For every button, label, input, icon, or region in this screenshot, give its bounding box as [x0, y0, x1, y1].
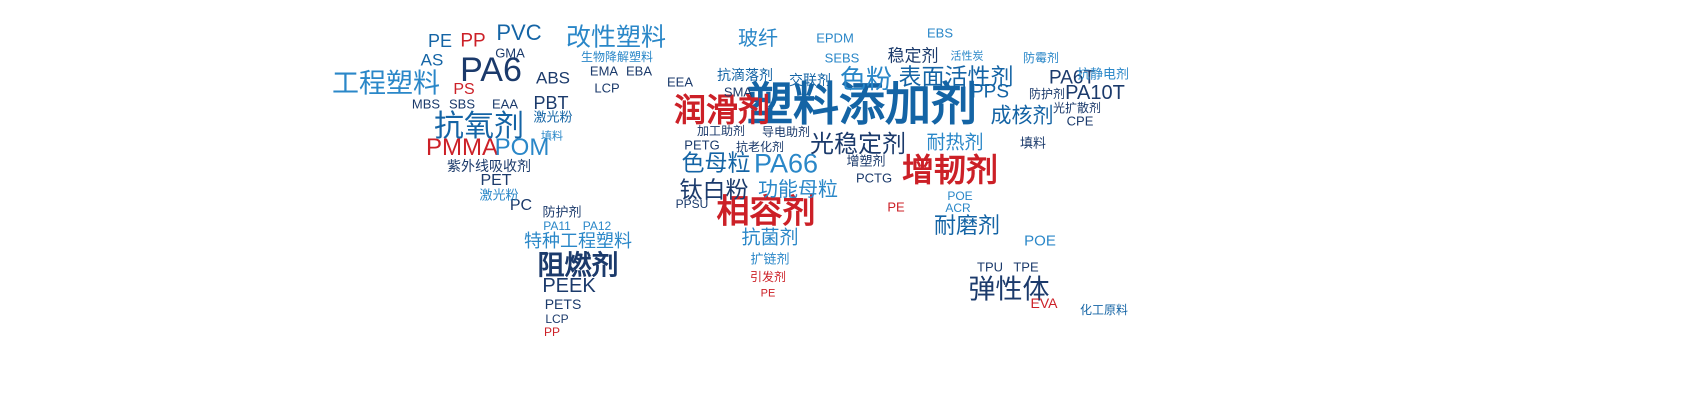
cloud-word[interactable]: EBS	[927, 27, 953, 40]
cloud-word[interactable]: SMA	[724, 86, 752, 99]
cloud-word[interactable]: AS	[421, 52, 444, 69]
cloud-word[interactable]: 改性塑料	[566, 26, 666, 51]
cloud-word[interactable]: 紫外线吸收剂	[447, 159, 531, 173]
cloud-word[interactable]: 稳定剂	[888, 48, 939, 65]
cloud-word[interactable]: 润滑剂	[674, 94, 770, 126]
cloud-word[interactable]: PE	[887, 201, 904, 214]
cloud-word[interactable]: 加工助剂	[697, 125, 745, 137]
cloud-word[interactable]: 激光粉	[479, 189, 518, 202]
cloud-word[interactable]: TPU	[977, 261, 1003, 274]
cloud-word[interactable]: 生物降解塑料	[581, 51, 653, 63]
cloud-word[interactable]: 激光粉	[533, 111, 572, 124]
cloud-word[interactable]: 活性炭	[951, 52, 984, 63]
cloud-word[interactable]: EMA	[590, 65, 618, 78]
cloud-word[interactable]: PPSU	[676, 198, 709, 210]
cloud-word[interactable]: PCTG	[856, 172, 892, 185]
word-cloud-canvas: 塑料添加剂润滑剂相容剂增韧剂阻燃剂工程塑料PA6抗氧剂改性塑料色粉表面活性剂光稳…	[0, 0, 1707, 400]
cloud-word[interactable]: SEBS	[825, 52, 860, 65]
cloud-word[interactable]: PP	[544, 326, 560, 338]
cloud-word[interactable]: PA11	[543, 220, 571, 232]
cloud-word[interactable]: PETG	[684, 139, 719, 152]
cloud-word[interactable]: EAA	[492, 98, 518, 111]
cloud-word[interactable]: EPDM	[816, 32, 854, 45]
cloud-word[interactable]: LCP	[594, 82, 619, 95]
cloud-word[interactable]: 抗老化剂	[736, 141, 784, 153]
cloud-word[interactable]: 增塑剂	[846, 155, 885, 168]
cloud-word[interactable]: PA10T	[1065, 83, 1125, 103]
cloud-word[interactable]: 工程塑料	[332, 71, 440, 98]
cloud-word[interactable]: PMMA	[426, 136, 498, 160]
cloud-word[interactable]: 引发剂	[750, 271, 786, 283]
cloud-word[interactable]: PEEK	[542, 276, 595, 296]
cloud-word[interactable]: 抗静电剂	[1077, 68, 1129, 81]
cloud-word[interactable]: 光扩散剂	[1053, 102, 1101, 114]
cloud-word[interactable]: PE	[761, 289, 776, 300]
cloud-word[interactable]: PPS	[971, 83, 1009, 102]
cloud-word[interactable]: 成核剂	[991, 106, 1054, 127]
cloud-word[interactable]: PE	[428, 32, 452, 50]
cloud-word[interactable]: 化工原料	[1080, 304, 1128, 316]
cloud-word[interactable]: 色母粒	[682, 152, 751, 175]
cloud-word[interactable]: TPE	[1013, 261, 1038, 274]
cloud-word[interactable]: GMA	[495, 47, 525, 60]
cloud-word[interactable]: 玻纤	[738, 29, 778, 49]
cloud-word[interactable]: SBS	[449, 98, 475, 111]
cloud-word[interactable]: EEA	[667, 76, 693, 89]
cloud-word[interactable]: 填料	[1020, 137, 1046, 150]
cloud-word[interactable]: ACR	[945, 202, 970, 214]
cloud-word[interactable]: 耐磨剂	[934, 215, 1000, 237]
cloud-word[interactable]: 特种工程塑料	[524, 232, 632, 250]
cloud-word[interactable]: ABS	[536, 70, 570, 87]
cloud-word[interactable]: CPE	[1067, 115, 1094, 128]
cloud-word[interactable]: 导电助剂	[762, 126, 810, 138]
cloud-word[interactable]: 防护剂	[1029, 88, 1065, 100]
cloud-word[interactable]: PA12	[583, 220, 611, 232]
cloud-word[interactable]: 抗菌剂	[741, 229, 798, 248]
cloud-word[interactable]: 耐热剂	[926, 134, 983, 153]
cloud-word[interactable]: LCP	[545, 313, 568, 325]
cloud-word[interactable]: 抗滴落剂	[717, 68, 773, 82]
cloud-word[interactable]: 色粉	[840, 66, 892, 92]
cloud-word[interactable]: 功能母粒	[758, 180, 838, 200]
cloud-word[interactable]: 防霉剂	[1023, 52, 1059, 64]
cloud-word[interactable]: 增韧剂	[902, 154, 998, 186]
cloud-word[interactable]: EBA	[626, 65, 652, 78]
cloud-word[interactable]: 防护剂	[542, 206, 581, 219]
cloud-word[interactable]: PETS	[545, 297, 582, 311]
cloud-word[interactable]: PP	[460, 32, 485, 51]
cloud-word[interactable]: 扩链剂	[750, 253, 789, 266]
cloud-word[interactable]: 填料	[541, 132, 563, 143]
cloud-word[interactable]: MBS	[412, 98, 440, 111]
cloud-word[interactable]: 交联剂	[789, 73, 831, 87]
cloud-word[interactable]: PA66	[754, 151, 818, 178]
cloud-word[interactable]: PVC	[496, 22, 541, 44]
cloud-word[interactable]: EVA	[1031, 296, 1058, 310]
cloud-word[interactable]: POE	[1024, 234, 1056, 249]
